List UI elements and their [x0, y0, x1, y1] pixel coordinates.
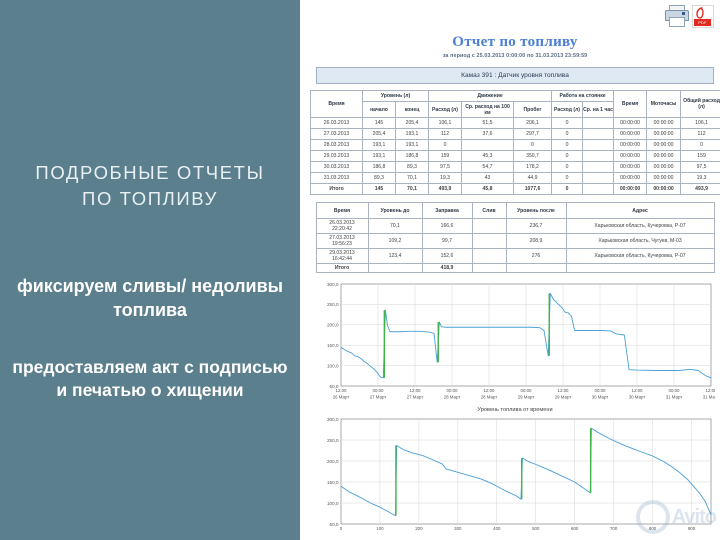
- col-time: Время: [311, 91, 363, 118]
- table-cell: 205,4: [396, 118, 429, 129]
- refuel-time-cell: 29.03.201316:42:44: [316, 249, 368, 264]
- svg-text:30 Март: 30 Март: [592, 395, 609, 400]
- fuel-summary-body: 26.03.2013145205,4106,151,5206,1000:00:0…: [311, 118, 720, 195]
- svg-text:800: 800: [649, 526, 657, 531]
- table-cell: 89,3: [396, 162, 429, 173]
- table-cell: 145: [363, 184, 396, 195]
- table-cell: 297,7: [514, 129, 552, 140]
- table-cell: [472, 264, 506, 273]
- svg-text:00:00: 00:00: [669, 388, 681, 393]
- refuel-level-before: 109,2: [368, 234, 422, 249]
- table-row: Итого14570,1493,945,81077,6000:00:0000:0…: [311, 184, 720, 195]
- table-cell: 45,3: [462, 151, 514, 162]
- refuel-time-cell: 27.03.201319:56:23: [316, 234, 368, 249]
- table-row: 29.03.2013193,1186,815945,3350,7000:00:0…: [311, 151, 720, 162]
- refuel-level-before: 70,1: [368, 219, 422, 234]
- table-row: 26.03.201322:20:4270,1166,6236,7Харьковс…: [316, 219, 714, 234]
- table-cell: 493,9: [681, 184, 720, 195]
- table-cell: 70,1: [396, 173, 429, 184]
- refuel-address: Харьковская область, Чугуев, М-03: [566, 234, 714, 249]
- table-cell: 00:00:00: [614, 129, 647, 140]
- table-cell: 0: [552, 184, 583, 195]
- svg-text:12:00: 12:00: [484, 388, 496, 393]
- table-cell: 493,9: [429, 184, 462, 195]
- chart2-svg: 50,0100,0150,0200,0250,0300,001002003004…: [315, 415, 715, 537]
- table-row: 27.03.201319:56:23109,299,7208,9Харьковс…: [316, 234, 714, 249]
- table-cell: 193,1: [396, 140, 429, 151]
- table-cell: 97,5: [429, 162, 462, 173]
- refuel-time-cell: 26.03.201322:20:42: [316, 219, 368, 234]
- svg-text:100,0: 100,0: [327, 501, 339, 506]
- svg-text:29 Март: 29 Март: [555, 395, 572, 400]
- table-cell: Итого: [316, 264, 368, 273]
- refuel-drain: [472, 249, 506, 264]
- refuel-amount: 152,6: [422, 249, 472, 264]
- promo-panel: ПОДРОБНЫЕ ОТЧЕТЫ ПО ТОПЛИВУ фиксируем сл…: [0, 0, 300, 540]
- table-cell: Итого: [311, 184, 363, 195]
- table-row: 30.03.2013186,889,397,554,7178,2000:00:0…: [311, 162, 720, 173]
- table-cell: [462, 140, 514, 151]
- table-cell: 206,1: [514, 118, 552, 129]
- table-cell: 205,4: [363, 129, 396, 140]
- table-cell: 00:00:00: [647, 184, 681, 195]
- table-cell: 44,9: [514, 173, 552, 184]
- promo-heading-line1: ПОДРОБНЫЕ ОТЧЕТЫ: [10, 160, 290, 186]
- table-cell: [506, 264, 566, 273]
- col-level-start: начало: [363, 102, 396, 118]
- table-cell: 00:00:00: [614, 162, 647, 173]
- svg-text:27 Март: 27 Март: [407, 395, 424, 400]
- refuel-level-after: 276: [506, 249, 566, 264]
- table-cell: 0: [552, 151, 583, 162]
- table-group-header-row: Время Уровень (л) Движение Работа на сто…: [311, 91, 720, 102]
- svg-text:400: 400: [493, 526, 501, 531]
- svg-text:12:00: 12:00: [336, 388, 348, 393]
- svg-text:00:00: 00:00: [447, 388, 459, 393]
- svg-text:00:00: 00:00: [373, 388, 385, 393]
- table-cell: 193,1: [363, 140, 396, 151]
- col-avg-per-hour: Ср. на 1 час: [583, 102, 614, 118]
- fuel-level-index-chart: 50,0100,0150,0200,0250,0300,001002003004…: [315, 415, 715, 537]
- promo-heading-line2: ПО ТОПЛИВУ: [10, 186, 290, 212]
- refuel-header-row: Время Уровень до Заправка Слив Уровень п…: [316, 203, 714, 219]
- svg-text:31 Март: 31 Март: [703, 395, 715, 400]
- table-cell: [583, 162, 614, 173]
- table-cell: 19,3: [429, 173, 462, 184]
- object-banner-table: Камаз 391 : Датчик уровня топлива: [316, 67, 714, 84]
- refuel-body: 26.03.201322:20:4270,1166,6236,7Харьковс…: [316, 219, 714, 273]
- table-cell: 29.03.2013: [311, 151, 363, 162]
- svg-text:250,0: 250,0: [327, 302, 339, 307]
- svg-text:600: 600: [571, 526, 579, 531]
- table-cell: [583, 140, 614, 151]
- table-cell: 0: [552, 129, 583, 140]
- table-cell: 0: [552, 118, 583, 129]
- table-cell: 19,3: [681, 173, 720, 184]
- refuel-col-level-before: Уровень до: [368, 203, 422, 219]
- table-cell: 106,1: [429, 118, 462, 129]
- table-cell: 54,7: [462, 162, 514, 173]
- table-cell: 27.03.2013: [311, 129, 363, 140]
- table-cell: 0: [514, 140, 552, 151]
- col-move-consumption: Расход (л): [429, 102, 462, 118]
- svg-text:700: 700: [610, 526, 618, 531]
- table-cell: [583, 173, 614, 184]
- table-row: 31.03.201389,370,119,34344,9000:00:0000:…: [311, 173, 720, 184]
- table-cell: 00:00:00: [614, 151, 647, 162]
- table-cell: 00:00:00: [647, 151, 681, 162]
- table-cell: [583, 129, 614, 140]
- refuel-amount: 166,6: [422, 219, 472, 234]
- object-banner-cell: Камаз 391 : Датчик уровня топлива: [317, 68, 714, 84]
- col-idle-time: Время: [614, 91, 647, 118]
- refuel-col-level-after: Уровень после: [506, 203, 566, 219]
- table-cell: 193,1: [396, 129, 429, 140]
- svg-text:12:00: 12:00: [632, 388, 644, 393]
- svg-text:31 Март: 31 Март: [666, 395, 683, 400]
- svg-text:30 Март: 30 Март: [629, 395, 646, 400]
- promo-bullet-1: фиксируем сливы/ недоливы топлива: [10, 274, 290, 322]
- col-engine-hours: Моточасы: [647, 91, 681, 118]
- table-cell: 45,8: [462, 184, 514, 195]
- table-cell: [566, 264, 714, 273]
- refuel-col-drain: Слив: [472, 203, 506, 219]
- table-cell: 43: [462, 173, 514, 184]
- table-row: 29.03.201316:42:44123,4152,6276Харьковск…: [316, 249, 714, 264]
- col-total-consumption: Общий расход (л): [681, 91, 720, 118]
- table-cell: 0: [429, 140, 462, 151]
- table-cell: [583, 151, 614, 162]
- table-cell: 418,9: [422, 264, 472, 273]
- table-cell: 31.03.2013: [311, 173, 363, 184]
- pdf-label: PDF: [694, 19, 711, 26]
- table-cell: [583, 118, 614, 129]
- svg-text:150,0: 150,0: [327, 343, 339, 348]
- table-cell: 193,1: [363, 151, 396, 162]
- table-cell: 0: [552, 140, 583, 151]
- printer-icon[interactable]: [665, 5, 687, 25]
- export-icons: PDF: [665, 5, 714, 28]
- svg-text:300: 300: [454, 526, 462, 531]
- table-cell: 00:00:00: [647, 118, 681, 129]
- svg-text:29 Март: 29 Март: [518, 395, 535, 400]
- table-cell: 00:00:00: [647, 129, 681, 140]
- table-total-row: Итого418,9: [316, 264, 714, 273]
- svg-text:27 Март: 27 Март: [370, 395, 387, 400]
- table-cell: 37,6: [462, 129, 514, 140]
- report-pane: PDF Отчет по топливу за период с 25.03.2…: [310, 0, 720, 540]
- group-level: Уровень (л): [363, 91, 429, 102]
- table-cell: 89,3: [363, 173, 396, 184]
- group-idle: Работа на стоянке: [552, 91, 614, 102]
- table-cell: 0: [552, 162, 583, 173]
- table-cell: 0: [681, 140, 720, 151]
- page-title: Отчет по топливу: [310, 34, 720, 51]
- svg-text:12:00: 12:00: [558, 388, 570, 393]
- panel-gutter: [300, 0, 310, 540]
- refuel-col-time: Время: [316, 203, 368, 219]
- table-cell: 70,1: [396, 184, 429, 195]
- svg-text:100: 100: [376, 526, 384, 531]
- table-cell: [368, 264, 422, 273]
- group-movement: Движение: [429, 91, 552, 102]
- chart1-title: Уровень топлива от времени: [315, 407, 715, 413]
- svg-text:0: 0: [340, 526, 343, 531]
- refuel-address: Харьковская область, Кучеровка, Р-07: [566, 219, 714, 234]
- table-row: 28.03.2013193,1193,100000:00:0000:00:000: [311, 140, 720, 151]
- col-avg-per-100km: Ср. расход на 100 км: [462, 102, 514, 118]
- table-cell: 159: [681, 151, 720, 162]
- col-idle-consumption: Расход (л): [552, 102, 583, 118]
- table-cell: 186,8: [396, 151, 429, 162]
- table-cell: 30.03.2013: [311, 162, 363, 173]
- table-cell: 159: [429, 151, 462, 162]
- table-cell: 00:00:00: [614, 184, 647, 195]
- table-cell: 186,8: [363, 162, 396, 173]
- table-cell: 00:00:00: [614, 173, 647, 184]
- table-cell: 112: [429, 129, 462, 140]
- svg-text:900: 900: [688, 526, 696, 531]
- svg-text:500: 500: [532, 526, 540, 531]
- refuel-amount: 99,7: [422, 234, 472, 249]
- col-mileage: Пробег: [514, 102, 552, 118]
- refuel-address: Харьковская область, Кучеровка, Р-07: [566, 249, 714, 264]
- svg-text:300,0: 300,0: [327, 417, 339, 422]
- table-cell: 178,2: [514, 162, 552, 173]
- table-cell: 145: [363, 118, 396, 129]
- refuel-col-refuel: Заправка: [422, 203, 472, 219]
- table-cell: 1077,6: [514, 184, 552, 195]
- fuel-summary-table: Время Уровень (л) Движение Работа на сто…: [310, 90, 720, 195]
- report-period: за период с 25.03.2013 0:00:00 по 31.03.…: [310, 52, 720, 61]
- promo-bullet-2: предоставляем акт с подписью и печатью о…: [7, 356, 293, 402]
- table-cell: 00:00:00: [647, 173, 681, 184]
- svg-text:28 Март: 28 Март: [481, 395, 498, 400]
- svg-text:00:00: 00:00: [595, 388, 607, 393]
- refuel-drain: [472, 234, 506, 249]
- table-cell: 28.03.2013: [311, 140, 363, 151]
- table-cell: 00:00:00: [647, 140, 681, 151]
- col-level-end: конец: [396, 102, 429, 118]
- svg-text:300,0: 300,0: [327, 282, 339, 287]
- svg-text:12:00: 12:00: [706, 388, 716, 393]
- refuel-level-after: 208,9: [506, 234, 566, 249]
- slide-root: ПОДРОБНЫЕ ОТЧЕТЫ ПО ТОПЛИВУ фиксируем сл…: [0, 0, 720, 540]
- svg-text:12:00: 12:00: [410, 388, 422, 393]
- table-cell: 106,1: [681, 118, 720, 129]
- table-cell: 112: [681, 129, 720, 140]
- table-cell: 00:00:00: [647, 162, 681, 173]
- fuel-level-time-chart: 50,0100,0150,0200,0250,0300,012:0026 Мар…: [315, 280, 715, 413]
- refuel-level-after: 236,7: [506, 219, 566, 234]
- table-cell: 0: [552, 173, 583, 184]
- report-toolbar: PDF: [310, 0, 720, 34]
- svg-text:28 Март: 28 Март: [444, 395, 461, 400]
- svg-text:00:00: 00:00: [521, 388, 533, 393]
- svg-text:150,0: 150,0: [327, 480, 339, 485]
- table-row: 26.03.2013145205,4106,151,5206,1000:00:0…: [311, 118, 720, 129]
- svg-text:250,0: 250,0: [327, 438, 339, 443]
- svg-text:200,0: 200,0: [327, 323, 339, 328]
- refuel-drain: [472, 219, 506, 234]
- svg-text:100,0: 100,0: [327, 363, 339, 368]
- table-cell: 97,5: [681, 162, 720, 173]
- object-banner-row: Камаз 391 : Датчик уровня топлива: [317, 68, 714, 84]
- svg-text:50,0: 50,0: [330, 522, 339, 527]
- refuel-level-before: 123,4: [368, 249, 422, 264]
- table-cell: [583, 184, 614, 195]
- svg-text:26 Март: 26 Март: [333, 395, 350, 400]
- svg-text:200,0: 200,0: [327, 459, 339, 464]
- chart1-svg: 50,0100,0150,0200,0250,0300,012:0026 Мар…: [315, 280, 715, 408]
- acrobat-swirl-icon: [696, 7, 709, 19]
- table-cell: 00:00:00: [614, 118, 647, 129]
- promo-heading: ПОДРОБНЫЕ ОТЧЕТЫ ПО ТОПЛИВУ: [10, 160, 290, 212]
- table-cell: 350,7: [514, 151, 552, 162]
- table-cell: 51,5: [462, 118, 514, 129]
- table-row: 27.03.2013205,4193,111237,6297,7000:00:0…: [311, 129, 720, 140]
- table-cell: 00:00:00: [614, 140, 647, 151]
- refuel-col-address: Адрес: [566, 203, 714, 219]
- table-cell: 26.03.2013: [311, 118, 363, 129]
- pdf-icon[interactable]: PDF: [692, 5, 714, 28]
- svg-text:200: 200: [415, 526, 423, 531]
- refuel-table: Время Уровень до Заправка Слив Уровень п…: [316, 202, 715, 273]
